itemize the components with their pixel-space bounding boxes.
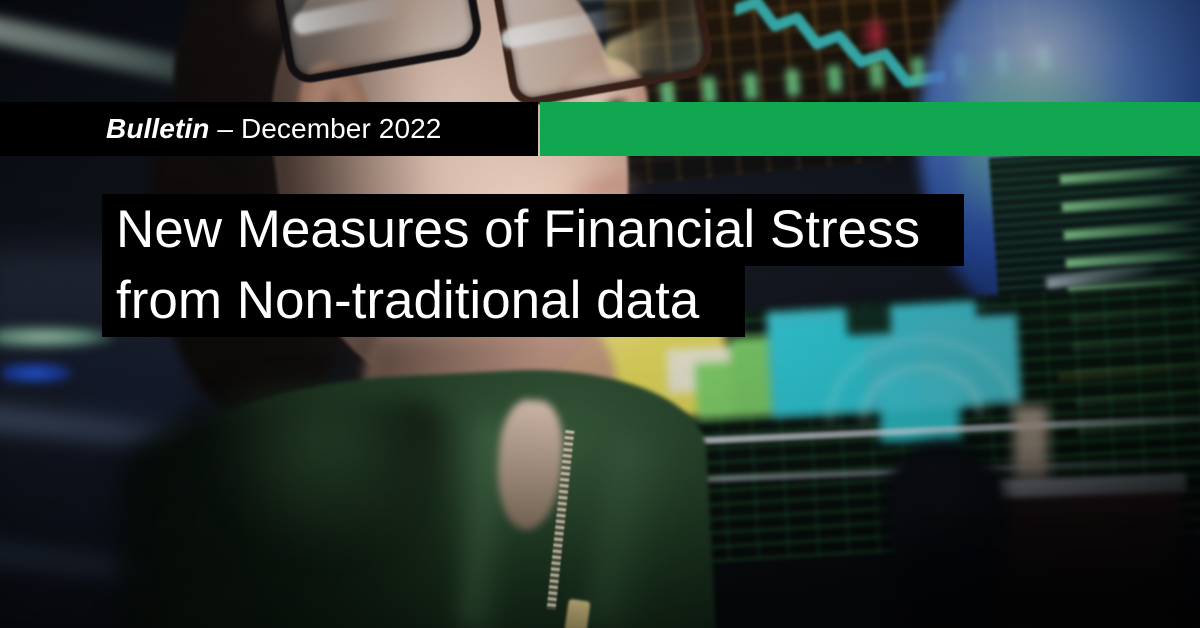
kicker-band: Bulletin – December 2022 xyxy=(0,102,538,156)
title-line-1: New Measures of Financial Stress xyxy=(102,194,964,266)
publication-name: Bulletin xyxy=(106,113,209,144)
kicker-text: Bulletin – December 2022 xyxy=(0,113,441,145)
issue-date: December 2022 xyxy=(241,113,442,144)
page-title: New Measures of Financial Stress from No… xyxy=(102,194,964,337)
shoulder-highlight xyxy=(210,390,400,560)
zipper-pull xyxy=(563,599,590,628)
accent-bar-green xyxy=(540,102,1200,156)
kicker-separator: – xyxy=(217,113,233,144)
bulletin-hero-banner: Bulletin – December 2022 New Measures of… xyxy=(0,0,1200,628)
title-line-2: from Non-traditional data xyxy=(102,265,745,337)
